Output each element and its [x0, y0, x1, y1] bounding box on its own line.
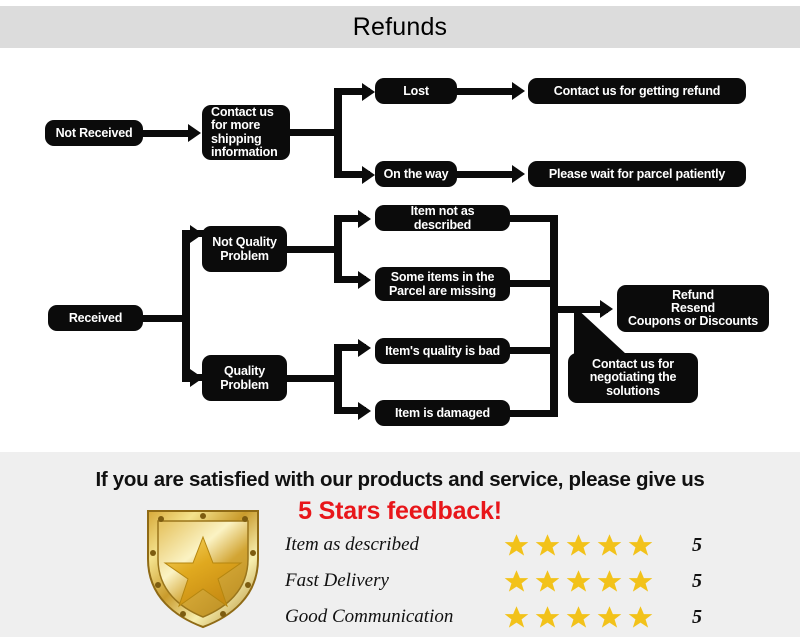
rating-label: Fast Delivery: [285, 570, 503, 592]
star-rating: [503, 604, 678, 631]
gold-shield-star-icon: [128, 497, 278, 632]
rating-row: Item as described 5: [285, 529, 745, 561]
split-bar-not-quality: [334, 215, 342, 283]
star-rating: [503, 568, 678, 595]
arrow-not-received-to-contact: [188, 124, 201, 142]
rating-value: 5: [692, 570, 702, 593]
arrow-on-the-way-to-wait: [512, 165, 525, 183]
node-not-received: Not Received: [45, 120, 143, 146]
rating-list: Item as described 5 Fast Delivery 5: [285, 529, 745, 637]
gold-star-icon: [627, 604, 654, 631]
gold-star-icon: [503, 568, 530, 595]
page-title: Refunds: [353, 13, 448, 42]
node-not-quality-problem: Not Quality Problem: [202, 226, 287, 272]
connector-not-received-to-contact: [143, 130, 190, 137]
gold-star-icon: [596, 532, 623, 559]
split-bar-not-received: [334, 88, 342, 178]
arrow-lost-to-refund: [512, 82, 525, 100]
arrow-to-item-damaged: [358, 402, 371, 420]
connector-quality-stem: [287, 375, 339, 382]
arrow-to-items-missing: [358, 271, 371, 289]
rating-value: 5: [692, 534, 702, 557]
gold-star-icon: [596, 568, 623, 595]
refund-flowchart: Not Received Contact us for more shippin…: [0, 48, 800, 452]
gold-star-icon: [565, 568, 592, 595]
star-rating: [503, 532, 678, 559]
gold-star-icon: [627, 532, 654, 559]
node-lost: Lost: [375, 78, 457, 104]
split-bar-quality: [334, 344, 342, 414]
connector-not-quality-stem: [287, 246, 339, 253]
rating-row: Fast Delivery 5: [285, 565, 745, 597]
gold-star-icon: [565, 532, 592, 559]
node-quality-problem: Quality Problem: [202, 355, 287, 401]
rating-value: 5: [692, 606, 702, 629]
gold-star-icon: [534, 604, 561, 631]
arrow-split-to-on-the-way: [362, 166, 375, 184]
arrow-to-item-not-described: [358, 210, 371, 228]
node-received: Received: [48, 305, 143, 331]
feedback-subhead: 5 Stars feedback!: [0, 497, 800, 526]
connector-on-the-way-to-wait: [457, 171, 519, 178]
gold-star-icon: [503, 532, 530, 559]
node-item-damaged: Item is damaged: [375, 400, 510, 426]
refund-policy-infographic: Refunds Not Received Contact us for more…: [0, 0, 800, 637]
arrow-to-quality-bad: [358, 339, 371, 357]
node-contact-for-refund: Contact us for getting refund: [528, 78, 746, 104]
gold-star-icon: [503, 604, 530, 631]
connector-contact-to-split: [288, 129, 340, 136]
node-contact-shipping-info: Contact us for more shipping information: [202, 105, 290, 160]
rating-label: Item as described: [285, 534, 503, 556]
split-bar-received: [182, 230, 190, 382]
gold-star-icon: [565, 604, 592, 631]
merge-bar-issues: [550, 215, 558, 417]
node-resolution-options: Refund Resend Coupons or Discounts: [617, 285, 769, 332]
rating-row: Good Communication 5: [285, 601, 745, 633]
gold-star-icon: [596, 604, 623, 631]
connector-lost-to-refund: [457, 88, 519, 95]
arrow-split-to-lost: [362, 83, 375, 101]
node-item-not-as-described: Item not as described: [375, 205, 510, 231]
rating-label: Good Communication: [285, 606, 503, 628]
node-item-quality-bad: Item's quality is bad: [375, 338, 510, 364]
feedback-headline: If you are satisfied with our products a…: [0, 468, 800, 492]
page-header-band: Refunds: [0, 6, 800, 48]
gold-star-icon: [627, 568, 654, 595]
node-on-the-way: On the way: [375, 161, 457, 187]
node-some-items-missing: Some items in the Parcel are missing: [375, 267, 510, 301]
gold-star-icon: [534, 532, 561, 559]
node-contact-negotiate-bubble: Contact us for negotiating the solutions: [568, 353, 698, 403]
gold-star-icon: [534, 568, 561, 595]
node-please-wait: Please wait for parcel patiently: [528, 161, 746, 187]
